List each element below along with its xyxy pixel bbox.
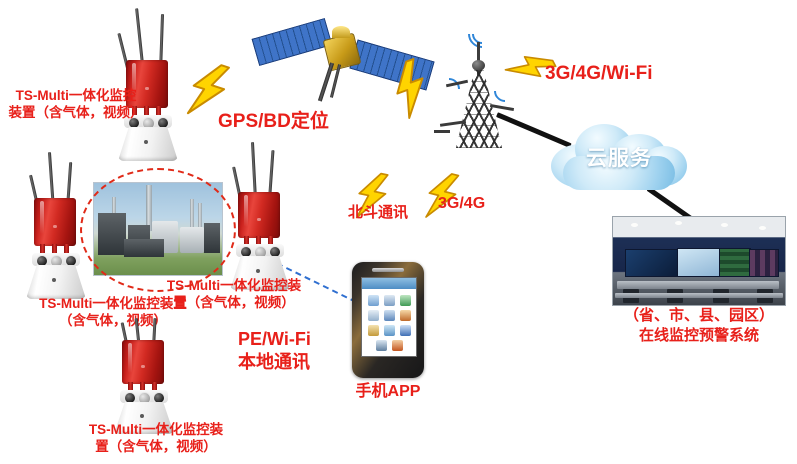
- status-dot: [144, 140, 148, 144]
- satellite-dish: [332, 26, 350, 38]
- app-icon[interactable]: [400, 310, 411, 321]
- app-icon[interactable]: [368, 295, 379, 306]
- video-wall-panel: [677, 248, 721, 277]
- tower-arm: [490, 104, 514, 111]
- ceiling-light: [631, 223, 638, 227]
- device-screen: [361, 277, 417, 357]
- label-3g4g-wifi: 3G/4G/Wi-Fi: [545, 62, 705, 86]
- label-gps-bd: GPS/BD定位: [218, 110, 368, 134]
- cloud-service-label: 云服务: [545, 142, 693, 172]
- video-wall-panel: [749, 249, 779, 277]
- app-icon[interactable]: [384, 325, 395, 336]
- app-icon[interactable]: [400, 325, 411, 336]
- device-base: [26, 265, 86, 299]
- label-beidou: 北斗通讯: [348, 204, 444, 223]
- app-icon[interactable]: [392, 340, 403, 351]
- speaker-grill: [372, 268, 404, 272]
- app-icon[interactable]: [376, 340, 387, 351]
- video-wall-panel: [625, 249, 679, 277]
- device-body: [34, 198, 76, 246]
- signal-wave-icon: [433, 73, 464, 104]
- status-dot: [256, 269, 260, 273]
- status-dot: [140, 414, 144, 418]
- operator-desk: [615, 293, 783, 298]
- handheld-app-label: 手机APP: [338, 382, 438, 402]
- video-wall-panel: [719, 248, 751, 277]
- control-room-photo: [612, 216, 786, 306]
- ceiling-light: [721, 223, 728, 227]
- app-icon[interactable]: [400, 295, 411, 306]
- cloud-service-icon[interactable]: 云服务: [545, 118, 693, 192]
- device-bottom-left[interactable]: [108, 318, 204, 428]
- device-bottom-left-label: TS-Multi一体化监控装 置（含气体，视频）: [62, 422, 250, 456]
- device-base: [118, 127, 178, 161]
- operator-desk: [617, 281, 779, 289]
- app-icon[interactable]: [368, 310, 379, 321]
- device-top-left-label: TS-Multi一体化监控 装置（含气体，视频）: [2, 88, 150, 122]
- tower-top-ball: [472, 60, 485, 71]
- label-3g4g: 3G/4G: [438, 194, 524, 214]
- app-icon[interactable]: [384, 295, 395, 306]
- device-body: [122, 340, 164, 384]
- handheld-app-device[interactable]: [352, 262, 424, 378]
- tower-arm: [434, 130, 450, 133]
- control-room-label: （省、市、县、园区） 在线监控预警系统: [604, 306, 794, 345]
- label-local-comm: PE/Wi-Fi 本地通讯: [238, 328, 358, 374]
- solar-panel: [252, 18, 333, 66]
- ceiling-light: [675, 221, 682, 225]
- lightning-bolt-icon: [384, 62, 436, 116]
- highlight-circle: [80, 168, 236, 292]
- screen-titlebar: [362, 278, 416, 289]
- device-body: [238, 192, 280, 238]
- signal-wave-icon: [462, 14, 502, 54]
- status-dot: [52, 278, 56, 282]
- diagram-canvas: TS-Multi一体化监控 装置（含气体，视频） TS-Multi一体化监控装置…: [0, 0, 797, 464]
- app-icon[interactable]: [368, 325, 379, 336]
- ceiling-light: [759, 226, 766, 230]
- app-icon[interactable]: [384, 310, 395, 321]
